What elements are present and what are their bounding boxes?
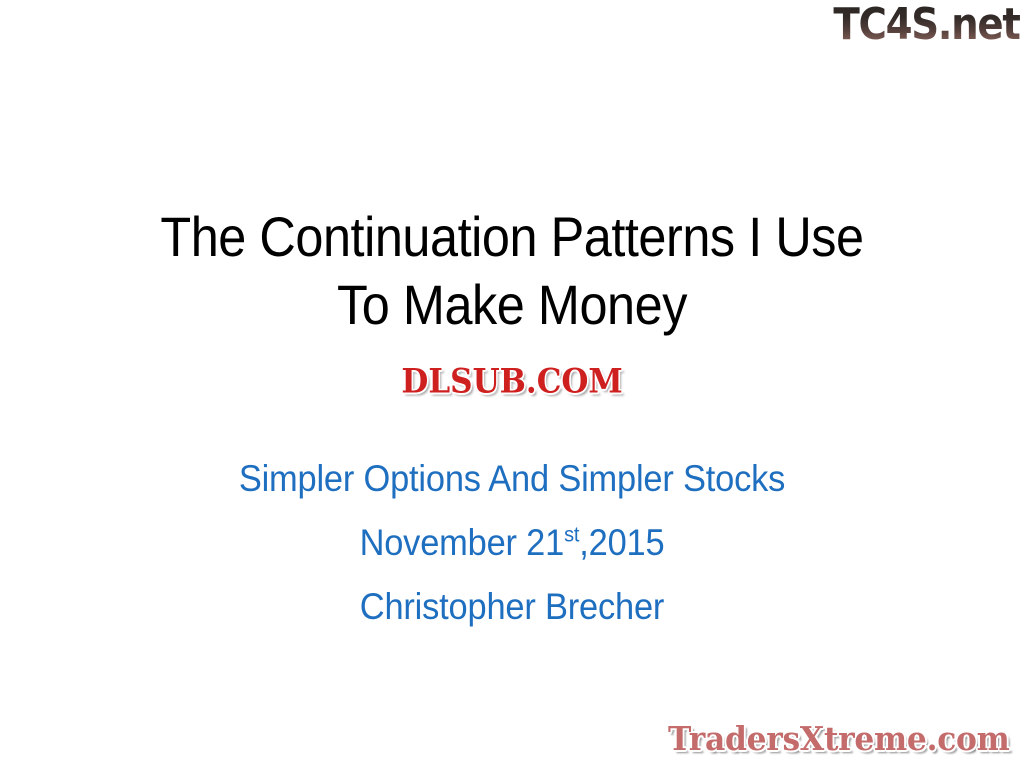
subtitle-organization: Simpler Options And Simpler Stocks [36, 447, 988, 511]
presentation-slide: TC4S.net The Continuation Patterns I Use… [0, 0, 1024, 768]
watermark-dlsub-label: DLSUB.COM [395, 359, 628, 405]
watermark-dlsub: DLSUB.COM [0, 360, 1024, 403]
title-line-1: The Continuation Patterns I Use [51, 203, 973, 271]
subtitle-date-ordinal: st [564, 523, 579, 547]
watermark-tc4s: TC4S.net [834, 2, 1020, 48]
watermark-tradersxtreme-label: TradersXtreme.com [668, 718, 1010, 760]
page-title: The Continuation Patterns I Use To Make … [0, 203, 1024, 339]
subtitle-presenter: Christopher Brecher [36, 575, 988, 639]
title-line-2: To Make Money [51, 271, 973, 339]
subtitle-date: November 21st,2015 [36, 511, 988, 575]
subtitle-date-year: ,2015 [579, 522, 664, 563]
watermark-tradersxtreme: TradersXtreme.com [659, 718, 1019, 760]
subtitle-block: Simpler Options And Simpler Stocks Novem… [0, 447, 1024, 639]
subtitle-date-monthday: November 21 [360, 522, 565, 563]
